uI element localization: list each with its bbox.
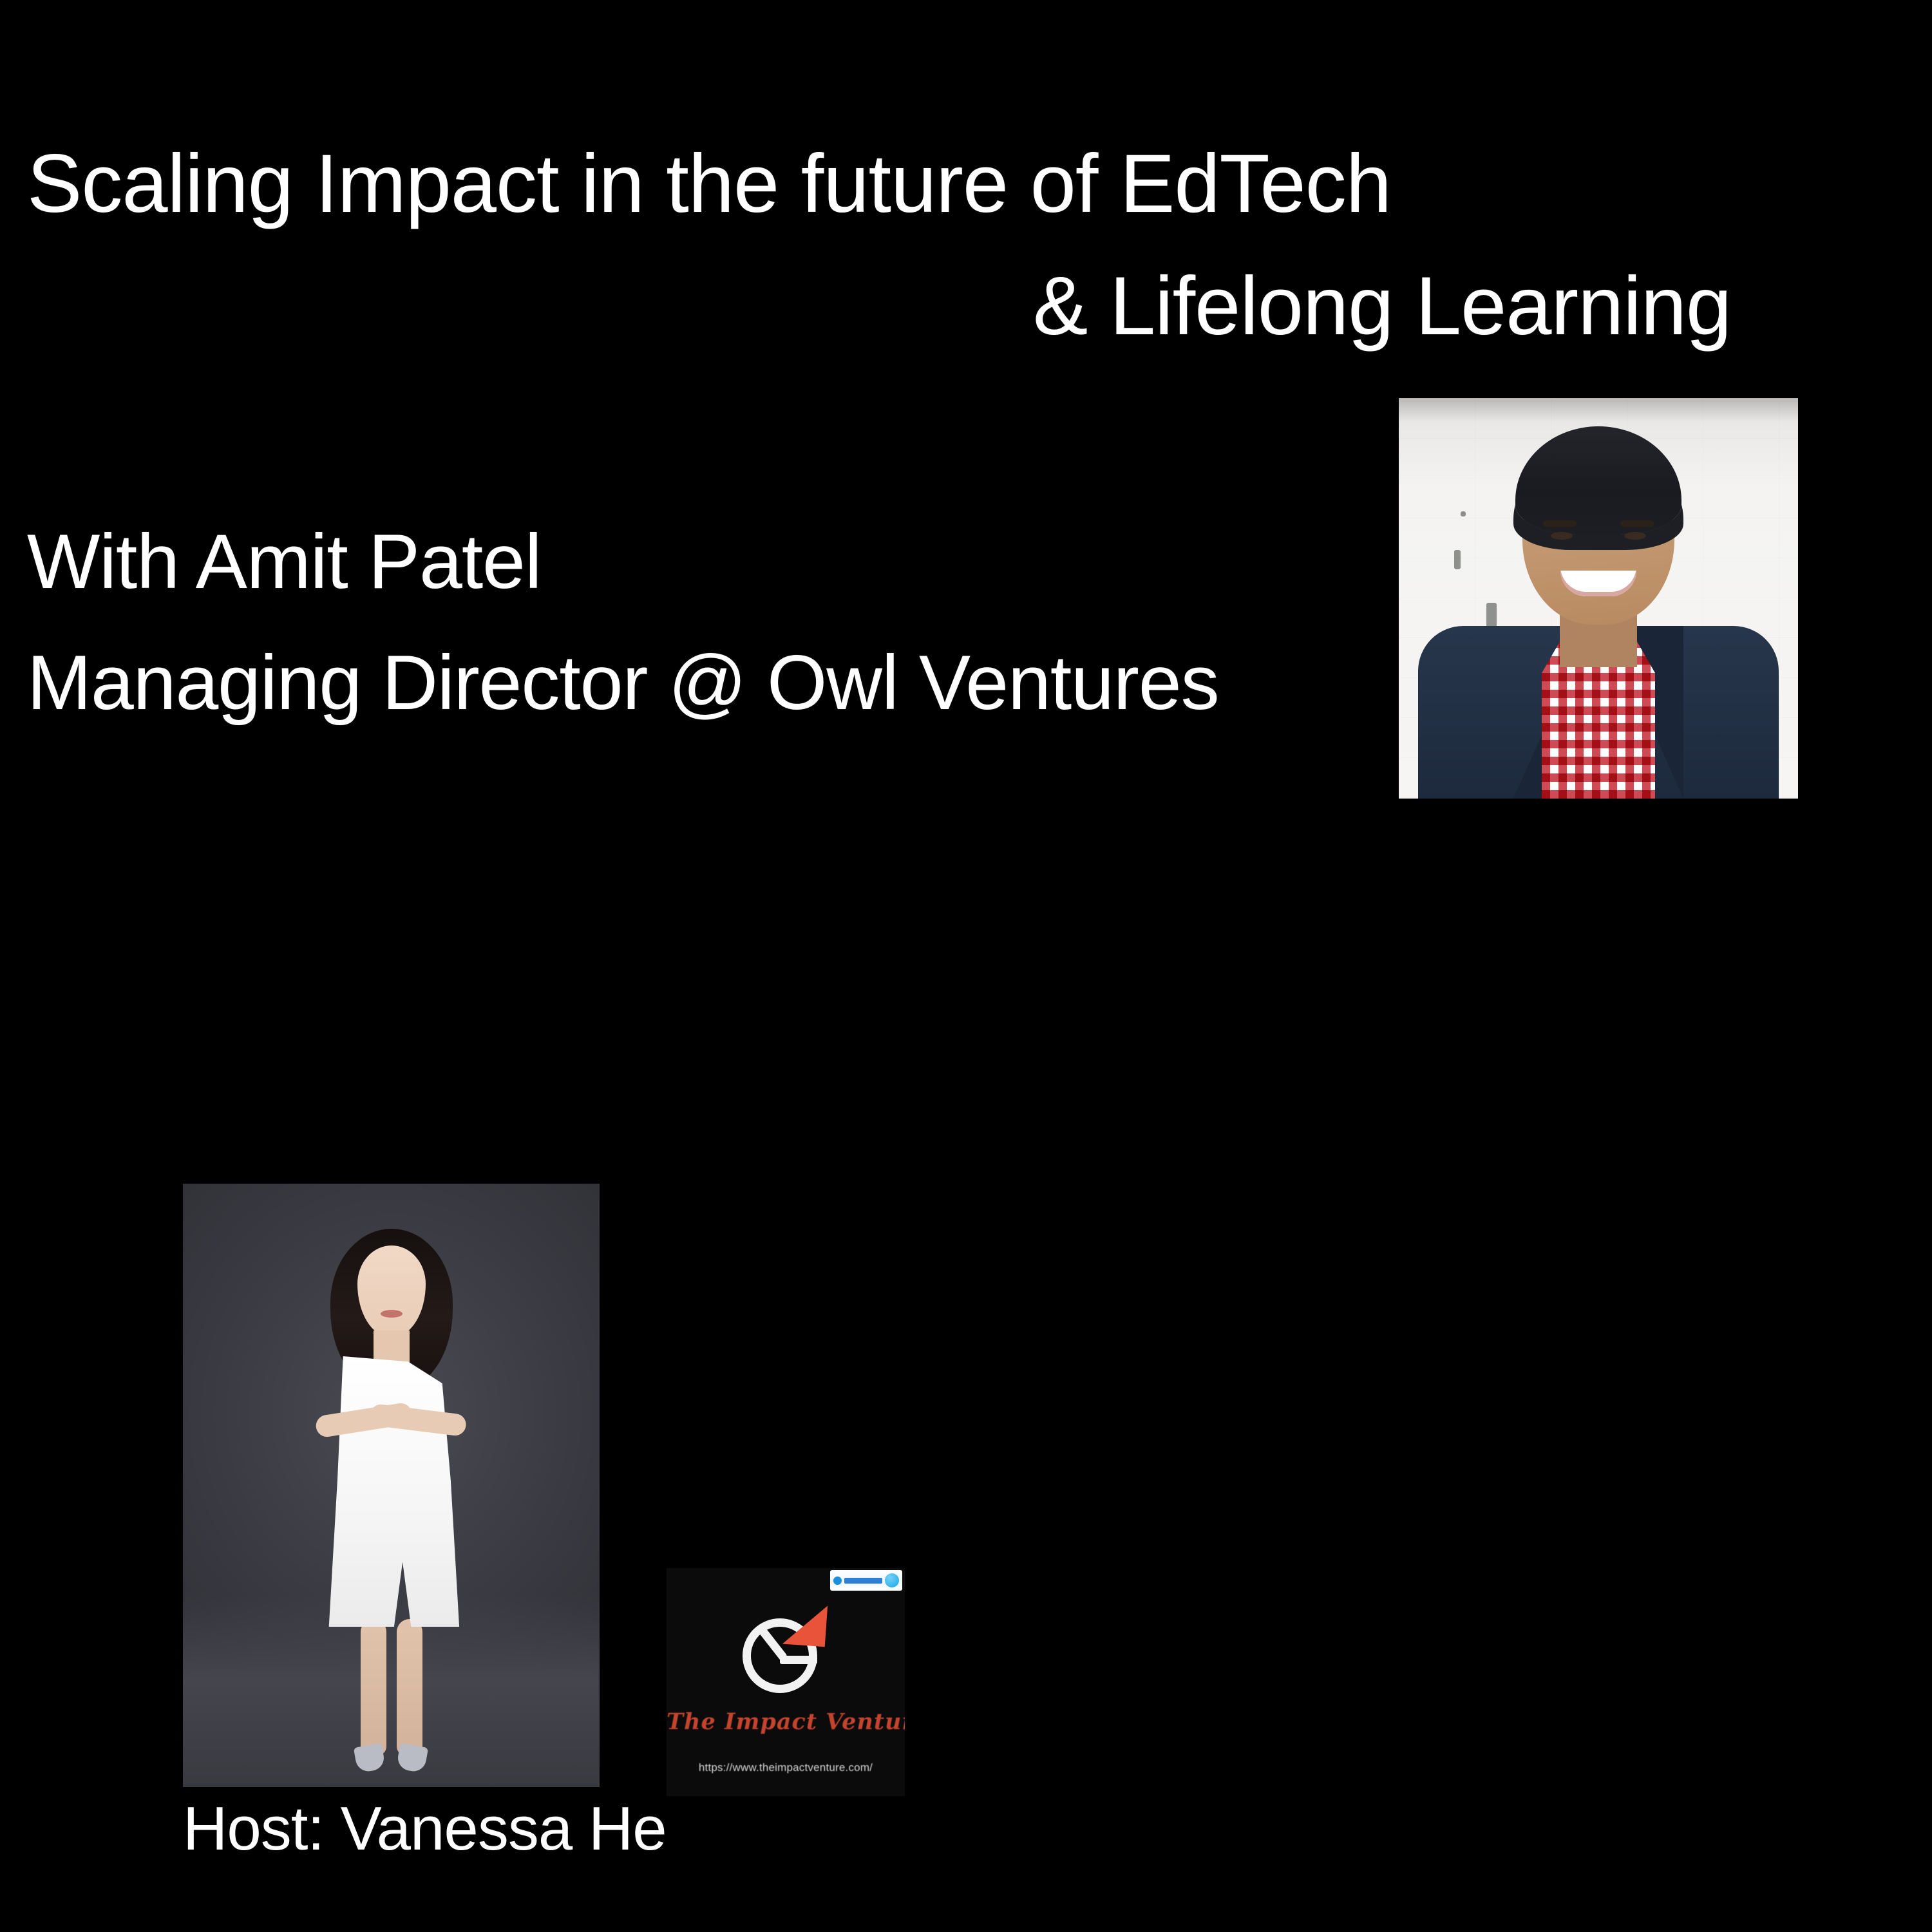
pie-divider-right <box>780 1656 817 1664</box>
host-caption: Host: Vanessa He <box>183 1798 667 1860</box>
wall-mark <box>1461 511 1466 516</box>
eye-right <box>1624 532 1646 540</box>
eyebrow-left <box>1543 520 1577 527</box>
logo-wordmark: The Impact Venture <box>667 1709 905 1735</box>
leg-left <box>361 1619 386 1756</box>
presentation-slide: Scaling Impact in the future of EdTech &… <box>0 0 1932 1932</box>
leg-right <box>397 1619 422 1756</box>
badge-dot-icon <box>833 1577 842 1585</box>
impact-venture-logo-card[interactable]: The Impact Venture https://www.theimpact… <box>667 1568 905 1796</box>
logo-url-text[interactable]: https://www.theimpactventure.com/ <box>667 1761 905 1774</box>
white-dress <box>321 1356 462 1627</box>
slide-title-line-1: Scaling Impact in the future of EdTech <box>27 143 1391 225</box>
badge-circle-icon <box>885 1573 899 1587</box>
speaker-role-line: Managing Director @ Owl Ventures <box>27 644 1219 721</box>
partner-badge <box>830 1570 902 1591</box>
lips <box>381 1310 402 1318</box>
eyebrow-right <box>1620 520 1654 527</box>
speaker-name-line: With Amit Patel <box>27 523 542 600</box>
pie-chart-logo-icon <box>737 1603 834 1700</box>
wall-mark <box>1454 550 1461 569</box>
badge-bar <box>844 1578 882 1584</box>
host-photo <box>183 1184 600 1787</box>
pie-exploded-slice <box>782 1603 828 1647</box>
speaker-headshot-photo <box>1399 398 1798 799</box>
slide-title-line-2: & Lifelong Learning <box>1033 265 1731 348</box>
eye-left <box>1551 532 1573 540</box>
